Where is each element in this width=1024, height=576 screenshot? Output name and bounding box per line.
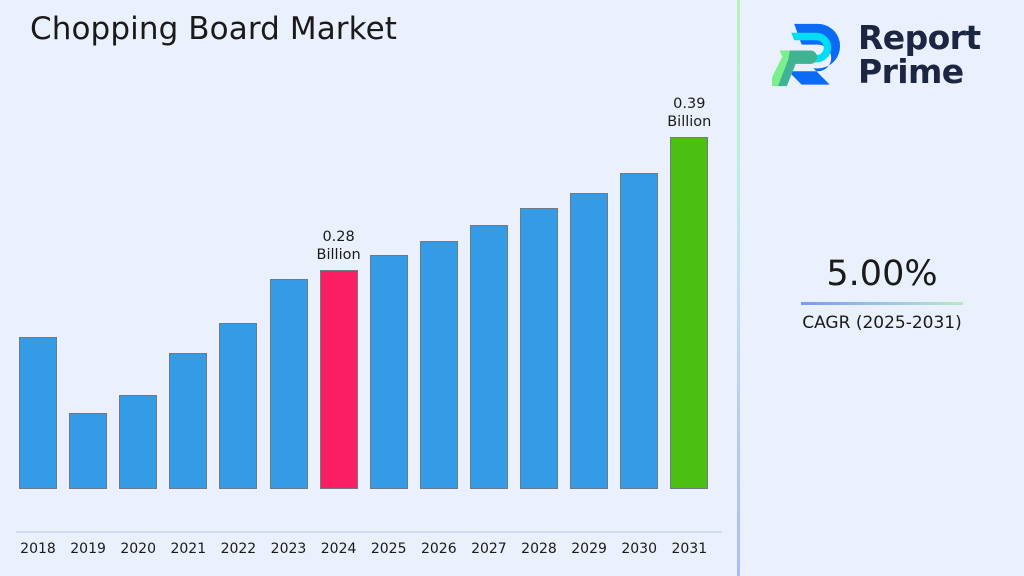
brand-logo: Report Prime	[772, 12, 1002, 98]
cagr-caption: CAGR (2025-2031)	[740, 312, 1024, 334]
brand-line-2: Prime	[858, 55, 981, 89]
chart-plot-area: 0.28 Billion0.39 Billion	[0, 0, 737, 533]
brand-line-1: Report	[858, 21, 981, 55]
bar-value-label-2024: 0.28 Billion	[296, 229, 382, 264]
bar-2020[interactable]	[119, 395, 157, 489]
bar-2018[interactable]	[19, 337, 57, 489]
report-prime-logo-icon	[772, 18, 846, 92]
x-tick-2031: 2031	[656, 540, 722, 558]
bar-2029[interactable]	[570, 193, 608, 489]
bar-chart: 0.28 Billion0.39 Billion 201820192020202…	[0, 0, 737, 576]
brand-wordmark: Report Prime	[858, 21, 981, 89]
bar-2027[interactable]	[470, 225, 508, 489]
cagr-value: 5.00%	[740, 252, 1024, 296]
bar-2030[interactable]	[620, 173, 658, 489]
x-axis-tick-labels: 2018201920202021202220232024202520262027…	[0, 540, 737, 564]
cagr-divider	[801, 302, 963, 305]
bar-2025[interactable]	[370, 255, 408, 489]
bar-2031[interactable]	[670, 137, 708, 489]
bar-2019[interactable]	[69, 413, 107, 489]
infographic-root: Chopping Board Market 0.28 Billion0.39 B…	[0, 0, 1024, 576]
cagr-block: 5.00% CAGR (2025-2031)	[740, 252, 1024, 334]
bar-2022[interactable]	[219, 323, 257, 489]
bar-2024[interactable]	[320, 270, 358, 489]
x-axis-line	[16, 531, 722, 533]
side-panel: Report Prime 5.00% CAGR (2025-2031)	[740, 0, 1024, 576]
bar-2021[interactable]	[169, 353, 207, 489]
bar-2023[interactable]	[270, 279, 308, 489]
bar-2028[interactable]	[520, 208, 558, 489]
bar-value-label-2031: 0.39 Billion	[646, 96, 732, 131]
bar-2026[interactable]	[420, 241, 458, 489]
